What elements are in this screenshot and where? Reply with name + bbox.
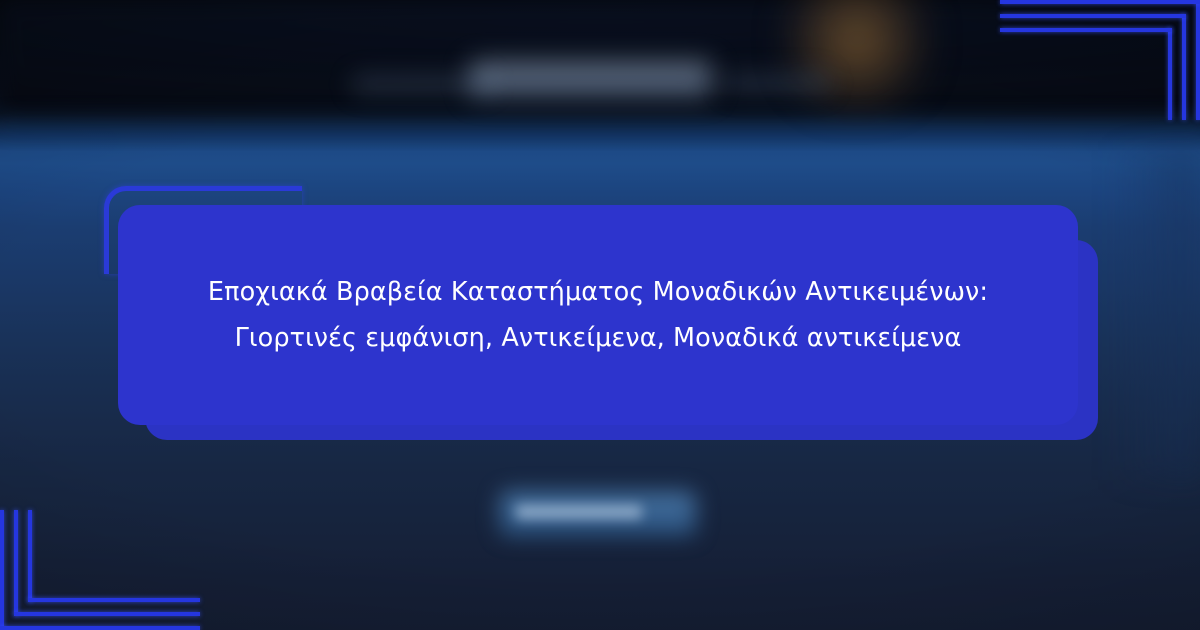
title-card: Εποχιακά Βραβεία Καταστήματος Μοναδικών …: [118, 205, 1078, 425]
title-card-text: Εποχιακά Βραβεία Καταστήματος Μοναδικών …: [118, 269, 1078, 361]
bottom-left-bracket-icon: [0, 510, 200, 630]
title-line-2: Γιορτινές εμφάνιση, Αντικείμενα, Μοναδικ…: [154, 315, 1042, 361]
top-right-bracket-icon: [1000, 0, 1200, 120]
title-line-1: Εποχιακά Βραβεία Καταστήματος Μοναδικών …: [154, 269, 1042, 315]
share-card-canvas: Εποχιακά Βραβεία Καταστήματος Μοναδικών …: [0, 0, 1200, 630]
